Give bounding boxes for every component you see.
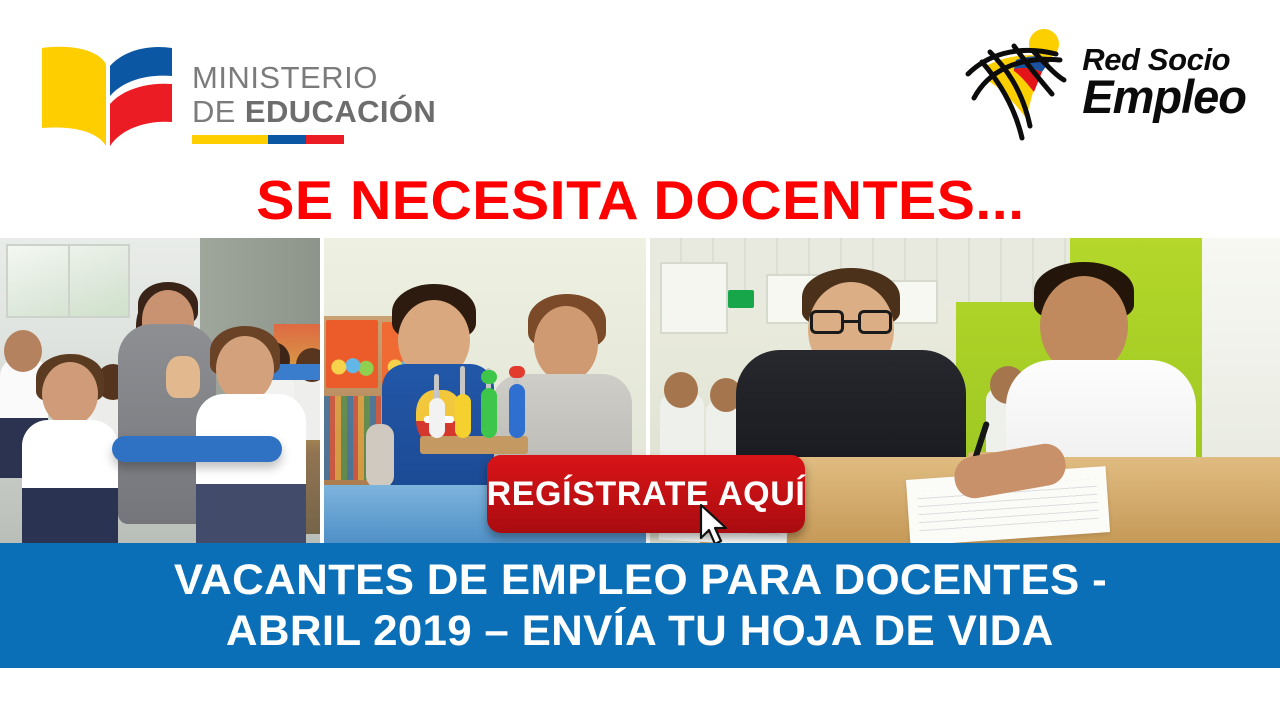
banner-line-1: VACANTES DE EMPLEO PARA DOCENTES -	[173, 555, 1106, 606]
ministry-line-2-bold: EDUCACIÓN	[245, 94, 436, 129]
flag-stripe-yellow	[192, 135, 268, 144]
red-socio-empleo-logo: Red Socio Empleo	[960, 22, 1246, 142]
banner-line-2: ABRIL 2019 – ENVÍA TU HOJA DE VIDA	[226, 606, 1054, 657]
ministry-of-education-logo: MINISTERIO DE EDUCACIÓN	[36, 34, 436, 152]
ministry-line-1: MINISTERIO	[192, 62, 436, 93]
photo-teacher-with-students	[0, 238, 320, 543]
register-here-label: REGÍSTRATE AQUÍ	[487, 475, 806, 514]
ministry-line-2: DE EDUCACIÓN	[192, 96, 436, 127]
header-bar: MINISTERIO DE EDUCACIÓN	[0, 0, 1280, 165]
flag-stripe-red	[306, 135, 344, 144]
headline-text: SE NECESITA DOCENTES...	[256, 168, 1024, 232]
register-here-button[interactable]: REGÍSTRATE AQUÍ	[487, 455, 805, 533]
red-socio-empleo-bird-icon	[960, 22, 1078, 142]
headline-banner: SE NECESITA DOCENTES...	[0, 163, 1280, 237]
bottom-banner: VACANTES DE EMPLEO PARA DOCENTES - ABRIL…	[0, 543, 1280, 668]
open-book-ecuador-flag-icon	[36, 34, 178, 152]
flag-stripe-blue	[268, 135, 306, 144]
promo-flyer-page: MINISTERIO DE EDUCACIÓN	[0, 0, 1280, 720]
footer-whitespace	[0, 668, 1280, 720]
ministry-line-2-prefix: DE	[192, 94, 245, 129]
partner-logo-line-2: Empleo	[1082, 75, 1246, 119]
ecuador-flag-bar	[192, 135, 344, 144]
